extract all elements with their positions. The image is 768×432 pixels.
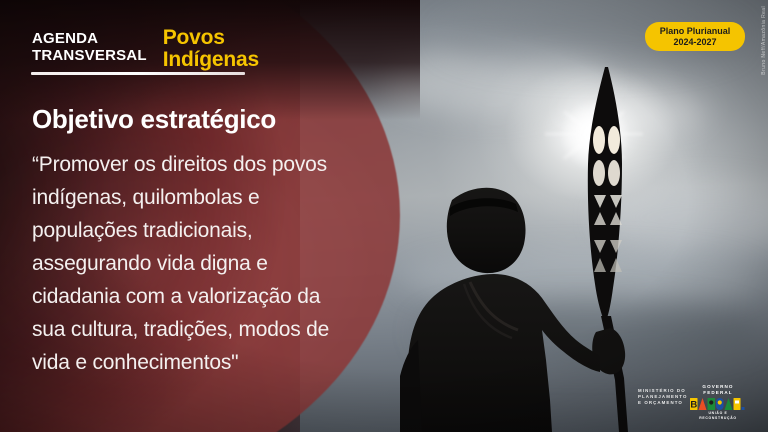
ppa-banner: AGENDA TRANSVERSAL Povos Indígenas Plano…: [0, 0, 768, 432]
svg-text:B: B: [690, 399, 697, 410]
povos-indigenas-label: Povos Indígenas: [163, 27, 259, 71]
plano-plurianual-badge: Plano Plurianual 2024-2027: [645, 22, 745, 51]
agenda-transversal-label: AGENDA TRANSVERSAL: [32, 27, 147, 64]
badge-line-2: 2024-2027: [673, 37, 716, 48]
ministry-logo: MINISTÉRIO DO PLANEJAMENTO E ORÇAMENTO: [638, 388, 687, 406]
brasil-wordmark: B: [690, 397, 746, 411]
objective-quote: “Promover os direitos dos povos indígena…: [32, 148, 352, 379]
government-logo-bottom-label: UNIÃO E RECONSTRUÇÃO: [690, 411, 746, 421]
government-logo: GOVERNO FEDERAL B UNIÃO E RECONSTRUÇÃO: [690, 384, 746, 410]
header-divider: [31, 72, 245, 75]
government-logo-top-label: GOVERNO FEDERAL: [690, 384, 746, 396]
page-title: Objetivo estratégico: [32, 104, 276, 135]
photo-credit: Bruno Neff/Amazônia Real: [761, 6, 767, 75]
badge-line-1: Plano Plurianual: [660, 26, 731, 37]
brand-header: AGENDA TRANSVERSAL Povos Indígenas: [32, 27, 259, 71]
